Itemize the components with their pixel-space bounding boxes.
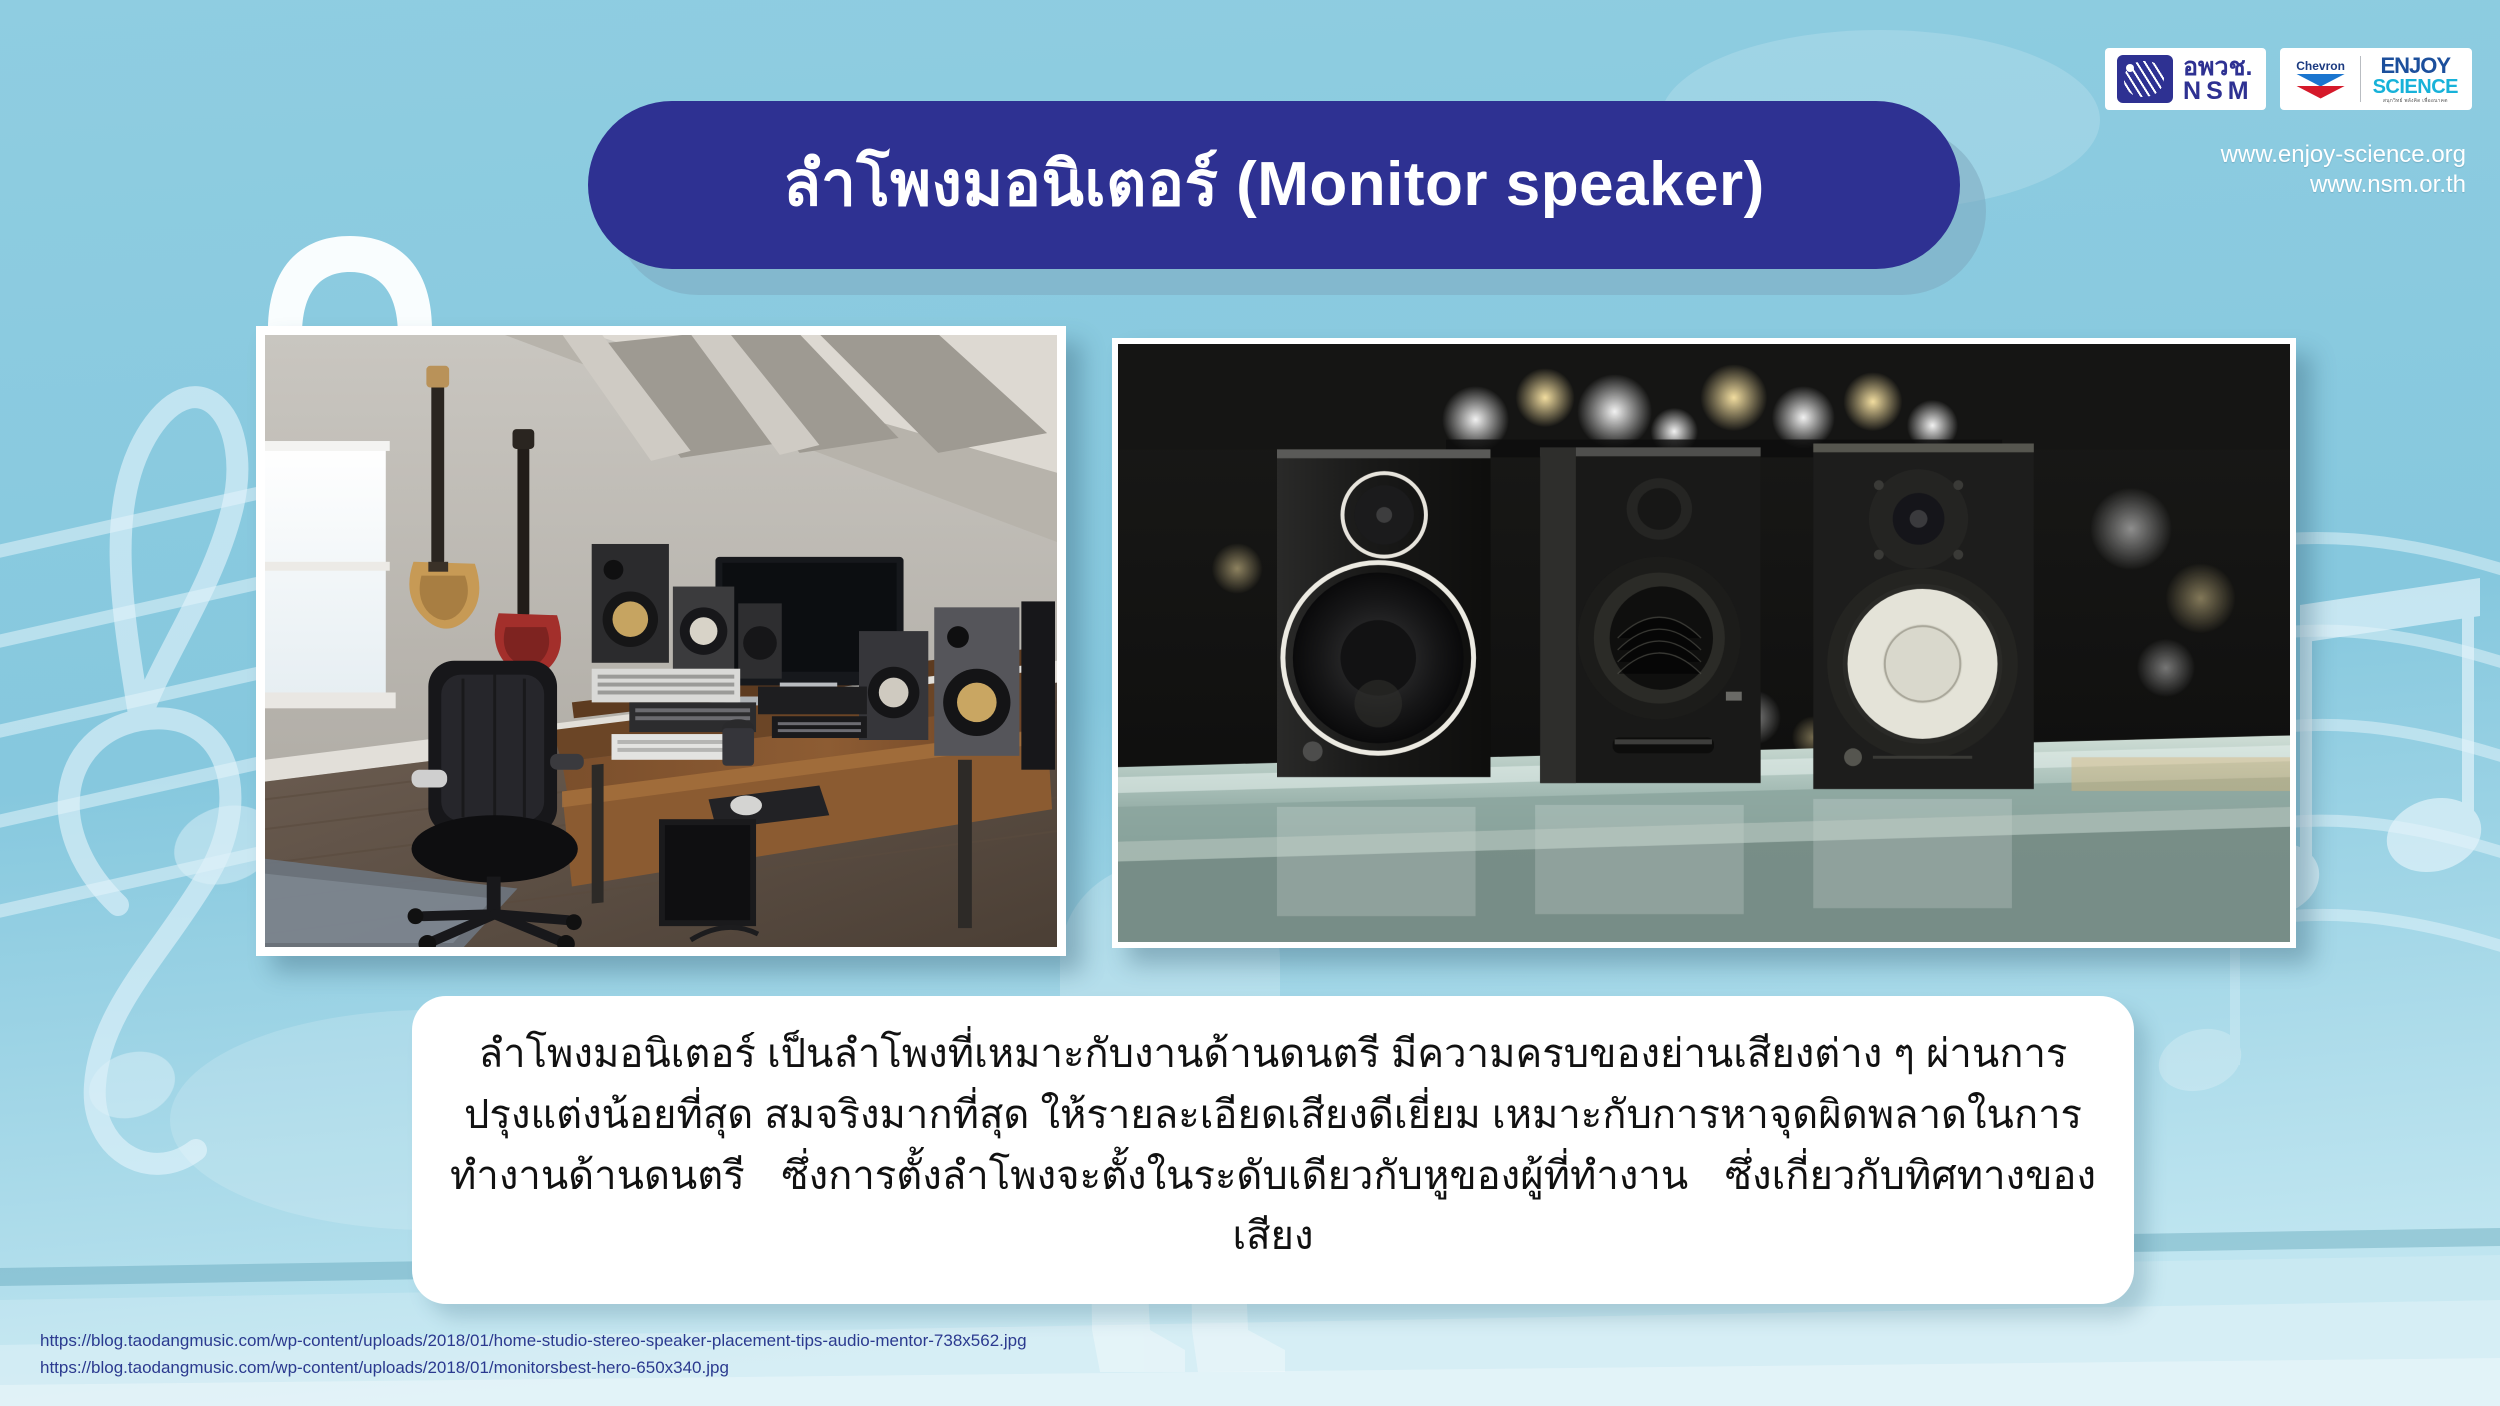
chevron-blue-shape — [2296, 74, 2346, 87]
sponsor-logo: Chevron ENJOY SCIENCE สนุกวิทย์ พลังคิด … — [2280, 48, 2472, 110]
description-line-2: ปรุงแต่งน้อยที่สุด สมจริงมากที่สุด ให้รา… — [450, 1085, 2096, 1146]
description-line-1: ลำโพงมอนิเตอร์ เป็นลำโพงที่เหมาะกับงานด้… — [450, 1024, 2096, 1085]
source-url-1: https://blog.taodangmusic.com/wp-content… — [40, 1328, 1027, 1355]
url-nsm: www.nsm.or.th — [2221, 170, 2466, 200]
slide-canvas: ลำโพงมอนิเตอร์ (Monitor speaker) อพวช. N… — [0, 0, 2500, 1406]
logo-bar: อพวช. NSM Chevron ENJOY SCIENCE สนุกวิทย… — [2105, 48, 2472, 110]
enjoy-line1: ENJOY — [2381, 55, 2451, 77]
chevron-label: Chevron — [2296, 60, 2345, 72]
enjoy-science-logo: ENJOY SCIENCE สนุกวิทย์ พลังคิด เพื่ออนา… — [2373, 55, 2458, 104]
page-title: ลำโพงมอนิเตอร์ (Monitor speaker) — [783, 154, 1765, 216]
description-line-3: ทำงานด้านดนตรี ซึ่งการตั้งลำโพงจะตั้งในร… — [450, 1146, 2096, 1268]
nsm-logo-line1: อพวช. — [2183, 55, 2254, 80]
source-url-2: https://blog.taodangmusic.com/wp-content… — [40, 1355, 1027, 1382]
logo-divider — [2360, 56, 2361, 102]
enjoy-line2: SCIENCE — [2373, 77, 2458, 97]
home-studio-illustration — [265, 335, 1057, 947]
url-enjoy-science: www.enjoy-science.org — [2221, 140, 2466, 170]
nsm-wordmark: อพวช. NSM — [2183, 55, 2254, 104]
monitor-speakers-photo — [1112, 338, 2296, 948]
description-text: ลำโพงมอนิเตอร์ เป็นลำโพงที่เหมาะกับงานด้… — [450, 1024, 2096, 1267]
nsm-emblem-icon — [2117, 55, 2173, 103]
nsm-logo-line2: NSM — [2183, 79, 2254, 104]
image-source-footer: https://blog.taodangmusic.com/wp-content… — [40, 1328, 1027, 1382]
description-card: ลำโพงมอนิเตอร์ เป็นลำโพงที่เหมาะกับงานด้… — [412, 996, 2134, 1304]
monitor-speakers-illustration — [1118, 344, 2290, 942]
organization-urls: www.enjoy-science.org www.nsm.or.th — [2221, 140, 2466, 200]
home-studio-photo — [256, 326, 1066, 956]
slide-title-banner: ลำโพงมอนิเตอร์ (Monitor speaker) — [588, 101, 1960, 269]
chevron-logo-icon: Chevron — [2294, 60, 2348, 99]
enjoy-tagline: สนุกวิทย์ พลังคิด เพื่ออนาคต — [2383, 99, 2448, 104]
nsm-logo: อพวช. NSM — [2105, 48, 2266, 110]
chevron-red-shape — [2296, 86, 2346, 99]
